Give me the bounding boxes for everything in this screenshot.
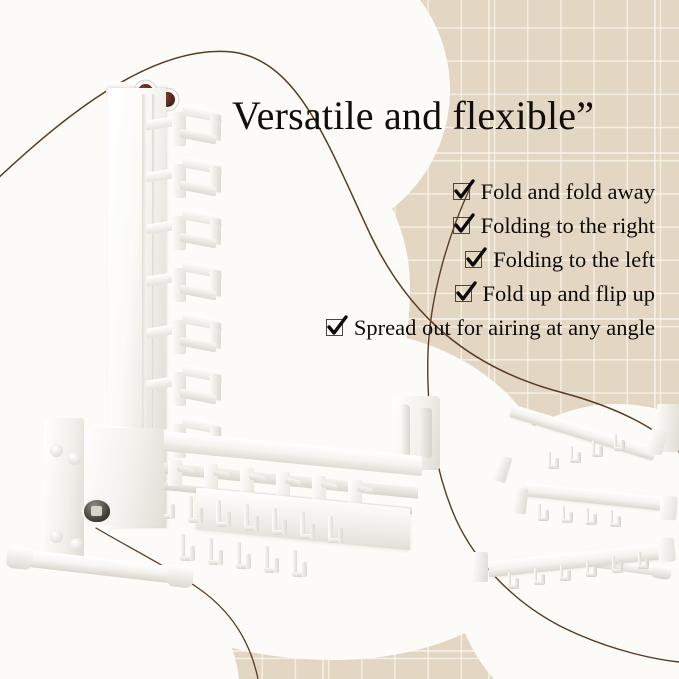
inset-hook	[538, 504, 549, 526]
inset-hook	[548, 452, 559, 474]
inset-endcap-lower	[472, 552, 488, 582]
inset-hook	[562, 506, 573, 528]
inset-hook	[610, 510, 621, 532]
inset-hook	[614, 434, 625, 456]
rail-hook-bracket	[146, 368, 228, 412]
inset-hook	[592, 440, 603, 462]
inset-hook	[570, 446, 581, 468]
feature-item: Fold and fold away	[453, 176, 655, 208]
inset-joint-lower	[657, 537, 676, 563]
plate-screw-hole	[50, 444, 63, 457]
checkbox-checked-icon	[455, 284, 474, 303]
hanging-hook	[264, 546, 279, 580]
arm-standing-tab	[240, 468, 254, 494]
plate-screw-hole	[50, 530, 63, 543]
hanging-hook	[272, 508, 287, 542]
rail-hook-bracket	[146, 108, 228, 152]
feature-item: Folding to the left	[465, 244, 655, 276]
feature-item: Spread out for airing at any angle	[326, 312, 655, 344]
arm-standing-tab	[204, 464, 218, 490]
inset-hook	[612, 556, 623, 578]
inset-hook	[586, 560, 597, 582]
hanging-hook	[244, 504, 259, 538]
hanging-hook	[236, 542, 251, 576]
feature-item: Folding to the right	[453, 210, 655, 242]
checkbox-checked-icon	[465, 250, 484, 269]
checkbox-checked-icon	[326, 318, 345, 337]
hanging-hook	[208, 538, 223, 572]
checkbox-checked-icon	[453, 182, 472, 201]
inset-joint-middle	[659, 495, 678, 520]
plate-screw-hole	[70, 538, 83, 551]
feature-label: Folding to the right	[481, 210, 655, 242]
hanging-hook	[292, 550, 307, 584]
arm-standing-tab	[276, 472, 290, 498]
page-title: Versatile and flexible”	[232, 96, 662, 136]
checkbox-checked-icon	[453, 216, 472, 235]
plate-screw-hole	[68, 452, 81, 465]
feature-item: Fold up and flip up	[455, 278, 656, 310]
arm-standing-tab	[168, 460, 182, 486]
hanging-hook	[216, 500, 231, 534]
inset-endcap-upper	[492, 455, 512, 484]
hanging-hook	[188, 496, 203, 530]
hanging-hook	[328, 516, 343, 550]
inset-arm-upper	[509, 404, 656, 460]
inset-hook	[508, 572, 519, 594]
feature-label: Spread out for airing at any angle	[354, 312, 655, 344]
inset-hook	[638, 552, 649, 574]
feature-label: Folding to the left	[493, 244, 655, 276]
inset-endcap-middle	[513, 487, 529, 514]
hanging-hook	[180, 534, 195, 568]
product-image-canvas: Versatile and flexible” Fold and fold aw…	[0, 0, 679, 679]
lock-knob	[84, 500, 110, 522]
feature-label: Fold and fold away	[481, 176, 655, 208]
feature-label: Fold up and flip up	[483, 278, 656, 310]
hanging-hook	[300, 512, 315, 546]
inset-hook	[534, 568, 545, 590]
inset-hook	[560, 564, 571, 586]
product-inset-illustration	[452, 404, 679, 679]
feature-list: Fold and fold away Folding to the right …	[135, 176, 655, 344]
inset-hook	[586, 508, 597, 530]
